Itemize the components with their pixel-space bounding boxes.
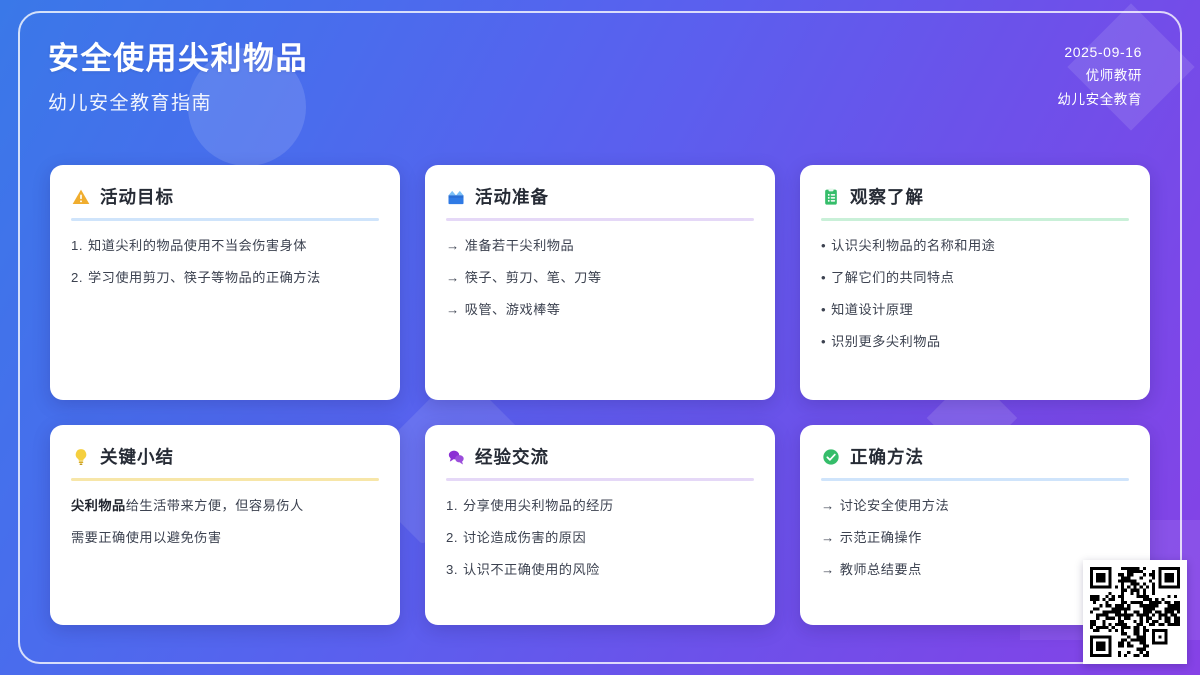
card-accent-rule [821, 218, 1129, 221]
list-item-text: 吸管、游戏棒等 [465, 302, 561, 317]
list-marker: 2. [446, 528, 458, 547]
list-marker: • [821, 332, 826, 351]
card-header: 观察了解 [821, 184, 1129, 218]
list-marker: 2. [71, 268, 83, 287]
page-subtitle: 幼儿安全教育指南 [48, 88, 308, 115]
check-circle-icon [821, 447, 841, 467]
card-accent-rule [71, 218, 379, 221]
list-item-text: 知道尖利的物品使用不当会伤害身体 [88, 238, 307, 253]
card-header: 活动准备 [446, 184, 754, 218]
warning-triangle-icon [71, 187, 91, 207]
card-header: 关键小结 [71, 444, 379, 478]
list-item-bold-prefix: 尖利物品 [71, 498, 126, 513]
meta-org: 优师教研 [1057, 64, 1142, 87]
list-item: →筷子、剪刀、笔、刀等 [446, 268, 754, 287]
card-title: 活动准备 [475, 184, 549, 209]
meta-category: 幼儿安全教育 [1057, 88, 1142, 111]
card-title: 活动目标 [100, 184, 174, 209]
card-title: 经验交流 [475, 444, 549, 469]
list-marker: 3. [446, 560, 458, 579]
list-item-text: 需要正确使用以避免伤害 [71, 530, 222, 545]
list-marker: 1. [446, 496, 458, 515]
list-item-text-wrap: 知道尖利的物品使用不当会伤害身体 [88, 236, 307, 255]
card-activity-goals: 活动目标1.知道尖利的物品使用不当会伤害身体2.学习使用剪刀、筷子等物品的正确方… [50, 165, 400, 400]
list-marker: • [821, 236, 826, 255]
list-marker: → [446, 268, 460, 287]
card-accent-rule [446, 478, 754, 481]
list-item-text: 讨论造成伤害的原因 [463, 530, 586, 545]
slide-header: 安全使用尖利物品 幼儿安全教育指南 2025-09-16 优师教研 幼儿安全教育 [0, 0, 1200, 150]
list-item: →示范正确操作 [821, 528, 1129, 547]
card-observe-understand: 观察了解•认识尖利物品的名称和用途•了解它们的共同特点•知道设计原理•识别更多尖… [800, 165, 1150, 400]
card-header: 正确方法 [821, 444, 1129, 478]
card-key-summary: 关键小结尖利物品给生活带来方便，但容易伤人需要正确使用以避免伤害 [50, 425, 400, 625]
list-marker: • [821, 300, 826, 319]
card-body: 1.知道尖利的物品使用不当会伤害身体2.学习使用剪刀、筷子等物品的正确方法 [71, 236, 379, 287]
meta-date: 2025-09-16 [1057, 40, 1142, 64]
list-item-text-wrap: 示范正确操作 [840, 528, 922, 547]
list-item-text: 识别更多尖利物品 [831, 334, 941, 349]
list-item: →吸管、游戏棒等 [446, 300, 754, 319]
list-item-text-wrap: 教师总结要点 [840, 560, 922, 579]
header-meta: 2025-09-16 优师教研 幼儿安全教育 [1057, 40, 1142, 111]
card-accent-rule [821, 478, 1129, 481]
list-item: •认识尖利物品的名称和用途 [821, 236, 1129, 255]
card-accent-rule [446, 218, 754, 221]
card-title: 正确方法 [850, 444, 924, 469]
list-marker: → [821, 528, 835, 547]
list-item-text: 认识不正确使用的风险 [463, 562, 600, 577]
list-item: 1.分享使用尖利物品的经历 [446, 496, 754, 515]
list-item-text: 认识尖利物品的名称和用途 [831, 238, 995, 253]
list-marker: → [821, 496, 835, 515]
list-item: 2.学习使用剪刀、筷子等物品的正确方法 [71, 268, 379, 287]
list-item-text-wrap: 讨论安全使用方法 [840, 496, 950, 515]
open-box-icon [446, 187, 466, 207]
list-item-text-wrap: 了解它们的共同特点 [831, 268, 954, 287]
list-item: 尖利物品给生活带来方便，但容易伤人 [71, 496, 379, 515]
list-item-text-wrap: 识别更多尖利物品 [831, 332, 941, 351]
list-item-text: 了解它们的共同特点 [831, 270, 954, 285]
list-item: •识别更多尖利物品 [821, 332, 1129, 351]
list-item-text: 给生活带来方便，但容易伤人 [126, 498, 304, 513]
card-activity-preparation: 活动准备→准备若干尖利物品→筷子、剪刀、笔、刀等→吸管、游戏棒等 [425, 165, 775, 400]
card-grid: 活动目标1.知道尖利的物品使用不当会伤害身体2.学习使用剪刀、筷子等物品的正确方… [50, 165, 1150, 625]
page-title: 安全使用尖利物品 [48, 40, 308, 79]
list-item: 3.认识不正确使用的风险 [446, 560, 754, 579]
qr-code-image [1090, 567, 1180, 657]
list-marker: 1. [71, 236, 83, 255]
list-item-text-wrap: 准备若干尖利物品 [465, 236, 575, 255]
card-accent-rule [71, 478, 379, 481]
list-item-text: 知道设计原理 [831, 302, 913, 317]
list-item: 1.知道尖利的物品使用不当会伤害身体 [71, 236, 379, 255]
list-item-text: 教师总结要点 [840, 562, 922, 577]
qr-code[interactable] [1083, 560, 1187, 664]
list-item-text: 筷子、剪刀、笔、刀等 [465, 270, 602, 285]
list-item-text-wrap: 认识不正确使用的风险 [463, 560, 600, 579]
card-experience-sharing: 经验交流1.分享使用尖利物品的经历2.讨论造成伤害的原因3.认识不正确使用的风险 [425, 425, 775, 625]
list-item: •知道设计原理 [821, 300, 1129, 319]
list-item: →准备若干尖利物品 [446, 236, 754, 255]
list-item-text-wrap: 学习使用剪刀、筷子等物品的正确方法 [88, 268, 321, 287]
list-item-text: 讨论安全使用方法 [840, 498, 950, 513]
list-item: 2.讨论造成伤害的原因 [446, 528, 754, 547]
card-header: 经验交流 [446, 444, 754, 478]
list-item-text-wrap: 需要正确使用以避免伤害 [71, 528, 222, 547]
list-marker: • [821, 268, 826, 287]
list-item: →讨论安全使用方法 [821, 496, 1129, 515]
list-item-text-wrap: 知道设计原理 [831, 300, 913, 319]
list-item-text-wrap: 吸管、游戏棒等 [465, 300, 561, 319]
card-header: 活动目标 [71, 184, 379, 218]
card-body: →准备若干尖利物品→筷子、剪刀、笔、刀等→吸管、游戏棒等 [446, 236, 754, 319]
clipboard-icon [821, 187, 841, 207]
list-item-text: 准备若干尖利物品 [465, 238, 575, 253]
card-body: 尖利物品给生活带来方便，但容易伤人需要正确使用以避免伤害 [71, 496, 379, 547]
chat-bubbles-icon [446, 447, 466, 467]
list-item: •了解它们的共同特点 [821, 268, 1129, 287]
lightbulb-icon [71, 447, 91, 467]
list-item-text-wrap: 筷子、剪刀、笔、刀等 [465, 268, 602, 287]
card-title: 观察了解 [850, 184, 924, 209]
list-marker: → [821, 560, 835, 579]
list-item-text: 分享使用尖利物品的经历 [463, 498, 614, 513]
list-item-text-wrap: 认识尖利物品的名称和用途 [831, 236, 995, 255]
list-marker: → [446, 236, 460, 255]
card-body: •认识尖利物品的名称和用途•了解它们的共同特点•知道设计原理•识别更多尖利物品 [821, 236, 1129, 352]
title-block: 安全使用尖利物品 幼儿安全教育指南 [48, 40, 308, 115]
list-item-text: 学习使用剪刀、筷子等物品的正确方法 [88, 270, 321, 285]
list-item-text: 示范正确操作 [840, 530, 922, 545]
list-marker: → [446, 300, 460, 319]
list-item-text-wrap: 讨论造成伤害的原因 [463, 528, 586, 547]
list-item-text-wrap: 尖利物品给生活带来方便，但容易伤人 [71, 496, 304, 515]
card-body: 1.分享使用尖利物品的经历2.讨论造成伤害的原因3.认识不正确使用的风险 [446, 496, 754, 579]
list-item-text-wrap: 分享使用尖利物品的经历 [463, 496, 614, 515]
list-item: 需要正确使用以避免伤害 [71, 528, 379, 547]
card-title: 关键小结 [100, 444, 174, 469]
